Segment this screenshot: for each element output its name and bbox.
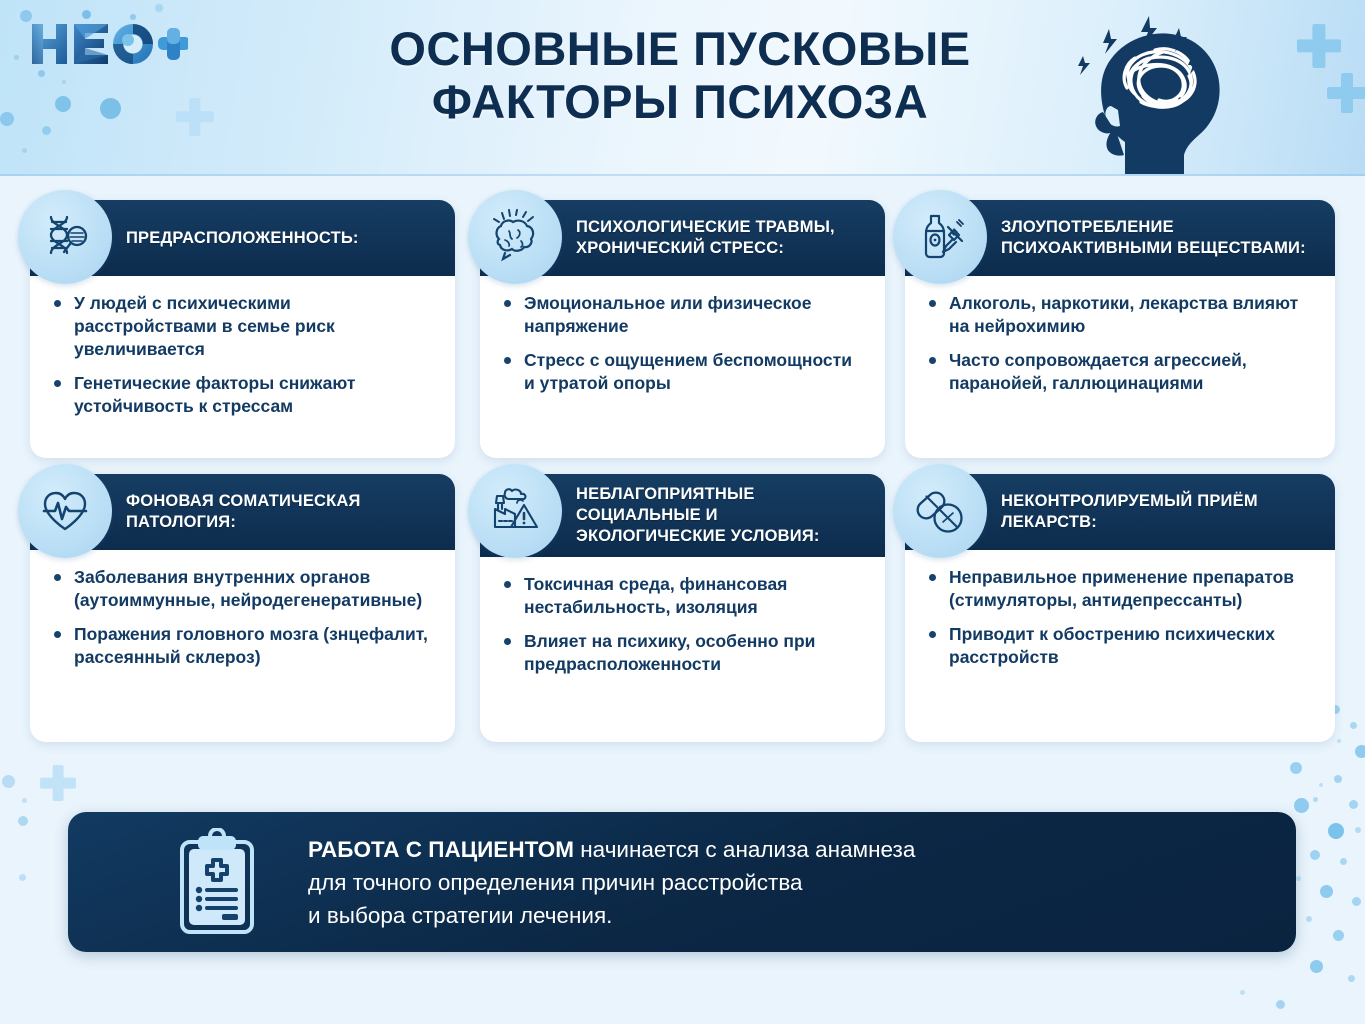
decor-dot xyxy=(1333,930,1344,941)
decor-dot xyxy=(1294,798,1309,813)
summary-line-3: и выбора стратегии лечения. xyxy=(308,899,915,932)
list-item: Стресс с ощущением беспомощности и утрат… xyxy=(502,349,867,395)
card-body: Токсичная среда, финансовая нестабильнос… xyxy=(480,557,885,692)
decor-plus-icon xyxy=(40,765,76,801)
summary-line-2: для точного определения причин расстройс… xyxy=(308,866,915,899)
list-item: Поражения головного мозга (знцефалит, ра… xyxy=(52,623,437,669)
card-title: ПСИХОЛОГИЧЕСКИЕ ТРАВМЫ, ХРОНИЧЕСКИЙ СТРЕ… xyxy=(576,207,885,269)
list-item: Приводит к обострению психических расстр… xyxy=(927,623,1317,669)
decor-plus-icon xyxy=(1297,24,1341,68)
list-item: Генетические факторы снижают устойчивост… xyxy=(52,372,437,418)
bottle-syringe-icon xyxy=(893,190,987,284)
clipboard-medical-icon xyxy=(174,828,260,936)
decor-dot xyxy=(1337,739,1341,743)
decor-dot xyxy=(1313,797,1318,802)
decor-dot xyxy=(1310,960,1323,973)
card-title: НЕКОНТРОЛИРУЕМЫЙ ПРИЁМ ЛЕКАРСТВ: xyxy=(1001,481,1335,543)
neo-plus-logo[interactable] xyxy=(28,18,188,70)
page-header: ОСНОВНЫЕ ПУСКОВЫЕ ФАКТОРЫ ПСИХОЗА xyxy=(0,0,1365,176)
summary-banner-text: РАБОТА С ПАЦИЕНТОМ начинается с анализа … xyxy=(308,833,915,932)
summary-line-1: РАБОТА С ПАЦИЕНТОМ начинается с анализа … xyxy=(308,833,915,866)
decor-dot xyxy=(1290,762,1302,774)
card-title: НЕБЛАГОПРИЯТНЫЕ СОЦИАЛЬНЫЕ И ЭКОЛОГИЧЕСК… xyxy=(576,474,885,557)
page-title-line1: ОСНОВНЫЕ ПУСКОВЫЕ xyxy=(300,22,1060,75)
decor-dot xyxy=(1340,858,1347,865)
decor-dot xyxy=(1349,800,1358,809)
card-social-ecological[interactable]: НЕБЛАГОПРИЯТНЫЕ СОЦИАЛЬНЫЕ И ЭКОЛОГИЧЕСК… xyxy=(480,474,885,742)
card-predisposition[interactable]: ПРЕДРАСПОЛОЖЕННОСТЬ: У людей с психическ… xyxy=(30,200,455,458)
card-title: ЗЛОУПОТРЕБЛЕНИЕ ПСИХОАКТИВНЫМИ ВЕЩЕСТВАМ… xyxy=(1001,207,1335,269)
decor-dot xyxy=(38,70,45,77)
decor-dot xyxy=(2,775,15,788)
decor-dot xyxy=(155,4,163,12)
pills-icon xyxy=(893,464,987,558)
list-item: Алкоголь, наркотики, лекарства влияют на… xyxy=(927,292,1317,338)
card-substance-abuse[interactable]: ЗЛОУПОТРЕБЛЕНИЕ ПСИХОАКТИВНЫМИ ВЕЩЕСТВАМ… xyxy=(905,200,1335,458)
card-header: НЕКОНТРОЛИРУЕМЫЙ ПРИЁМ ЛЕКАРСТВ: xyxy=(905,474,1335,550)
decor-plus-icon xyxy=(1327,73,1365,113)
decor-dot xyxy=(22,798,27,803)
decor-dot xyxy=(1320,885,1333,898)
head-with-tangled-thoughts-icon xyxy=(1063,2,1273,174)
card-somatic-pathology[interactable]: ФОНОВАЯ СОМАТИЧЕСКАЯ ПАТОЛОГИЯ: Заболева… xyxy=(30,474,455,742)
list-item: Часто сопровождается агрессией, паранойе… xyxy=(927,349,1317,395)
list-item: У людей с психическими расстройствами в … xyxy=(52,292,437,361)
card-body: Эмоциональное или физическое напряжение … xyxy=(480,276,885,411)
list-item: Влияет на психику, особенно при предрасп… xyxy=(502,630,867,676)
page-title: ОСНОВНЫЕ ПУСКОВЫЕ ФАКТОРЫ ПСИХОЗА xyxy=(300,22,1060,128)
stressed-brain-icon xyxy=(468,190,562,284)
decor-dot xyxy=(55,96,71,112)
card-body: У людей с психическими расстройствами в … xyxy=(30,276,455,434)
card-title: ФОНОВАЯ СОМАТИЧЕСКАЯ ПАТОЛОГИЯ: xyxy=(126,481,455,543)
summary-banner: РАБОТА С ПАЦИЕНТОМ начинается с анализа … xyxy=(68,812,1296,952)
card-header: ПРЕДРАСПОЛОЖЕННОСТЬ: xyxy=(30,200,455,276)
decor-dot xyxy=(0,112,14,126)
list-item: Заболевания внутренних органов (аутоимму… xyxy=(52,566,437,612)
page-title-line2: ФАКТОРЫ ПСИХОЗА xyxy=(300,75,1060,128)
list-item: Неправильное применение препаратов (стим… xyxy=(927,566,1317,612)
summary-lead: РАБОТА С ПАЦИЕНТОМ xyxy=(308,837,574,862)
decor-dot xyxy=(1328,823,1344,839)
card-body: Алкоголь, наркотики, лекарства влияют на… xyxy=(905,276,1335,411)
decor-dot xyxy=(62,80,66,84)
decor-dot xyxy=(1310,850,1320,860)
card-title: ПРЕДРАСПОЛОЖЕННОСТЬ: xyxy=(126,218,373,259)
card-header: ЗЛОУПОТРЕБЛЕНИЕ ПСИХОАКТИВНЫМИ ВЕЩЕСТВАМ… xyxy=(905,200,1335,276)
decor-dot xyxy=(1296,876,1301,881)
decor-dot xyxy=(1334,775,1342,783)
decor-dot xyxy=(1240,990,1245,995)
summary-rest: начинается с анализа анамнеза xyxy=(574,837,915,862)
list-item: Эмоциональное или физическое напряжение xyxy=(502,292,867,338)
card-header: ПСИХОЛОГИЧЕСКИЕ ТРАВМЫ, ХРОНИЧЕСКИЙ СТРЕ… xyxy=(480,200,885,276)
decor-dot xyxy=(100,98,121,119)
card-psychological-trauma[interactable]: ПСИХОЛОГИЧЕСКИЕ ТРАВМЫ, ХРОНИЧЕСКИЙ СТРЕ… xyxy=(480,200,885,458)
decor-plus-icon xyxy=(176,98,214,136)
card-body: Заболевания внутренних органов (аутоимму… xyxy=(30,550,455,685)
list-item: Токсичная среда, финансовая нестабильнос… xyxy=(502,573,867,619)
decor-dot xyxy=(19,874,26,881)
decor-dot xyxy=(1306,916,1312,922)
card-uncontrolled-medication[interactable]: НЕКОНТРОЛИРУЕМЫЙ ПРИЁМ ЛЕКАРСТВ: Неправи… xyxy=(905,474,1335,742)
decor-dot xyxy=(1352,897,1361,906)
heart-pulse-icon xyxy=(18,464,112,558)
decor-dot xyxy=(14,55,19,60)
card-header: НЕБЛАГОПРИЯТНЫЕ СОЦИАЛЬНЫЕ И ЭКОЛОГИЧЕСК… xyxy=(480,474,885,557)
card-body: Неправильное применение препаратов (стим… xyxy=(905,550,1335,685)
decor-dot xyxy=(22,148,27,153)
factory-warning-icon xyxy=(468,464,562,558)
card-header: ФОНОВАЯ СОМАТИЧЕСКАЯ ПАТОЛОГИЯ: xyxy=(30,474,455,550)
decor-dot xyxy=(42,126,51,135)
decor-dot xyxy=(1319,783,1323,787)
decor-dot xyxy=(1276,1000,1285,1009)
dna-magnifier-icon xyxy=(18,190,112,284)
decor-dot xyxy=(1348,975,1355,982)
decor-dot xyxy=(18,816,28,826)
decor-dot xyxy=(1355,745,1365,758)
decor-dot xyxy=(1355,827,1361,833)
decor-dot xyxy=(1350,722,1357,729)
